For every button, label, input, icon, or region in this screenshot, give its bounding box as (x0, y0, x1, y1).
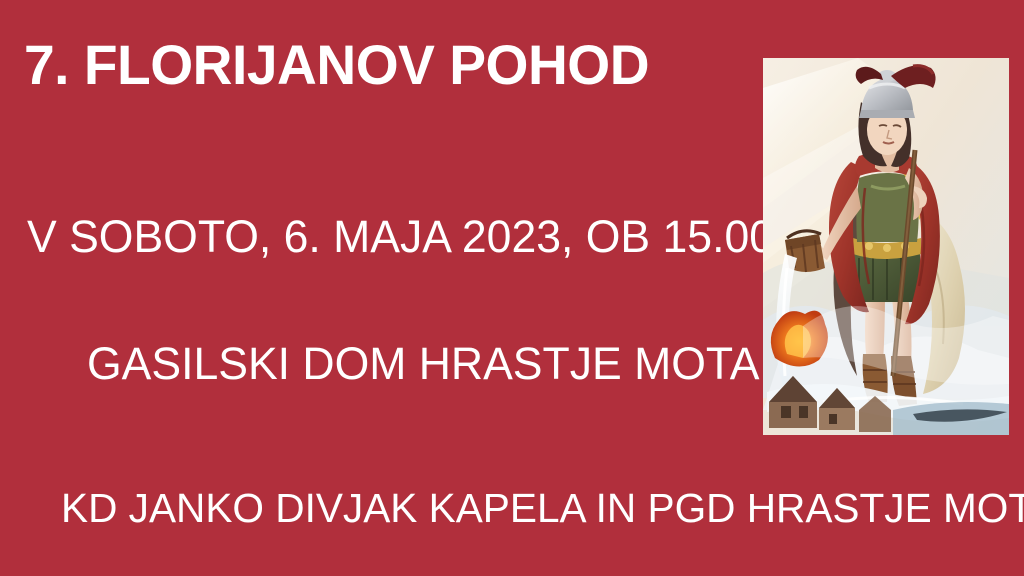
event-date-time: V SOBOTO, 6. MAJA 2023, OB 15.00. (27, 212, 786, 262)
page-title: 7. FLORIJANOV POHOD (24, 36, 649, 95)
event-organizers: KD JANKO DIVJAK KAPELA IN PGD HRASTJE MO… (61, 486, 1024, 531)
event-venue: GASILSKI DOM HRASTJE MOTA (87, 339, 759, 389)
saint-florian-image (763, 58, 1009, 435)
event-poster: 7. FLORIJANOV POHOD V SOBOTO, 6. MAJA 20… (0, 0, 1024, 576)
